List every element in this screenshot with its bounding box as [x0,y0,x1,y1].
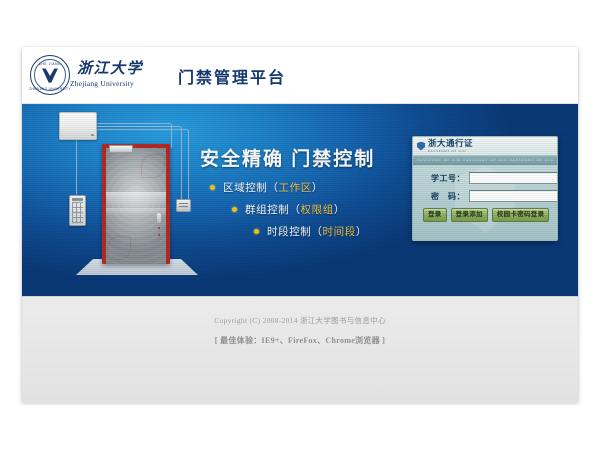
feature-text: 群组控制（ [245,202,301,217]
login-watermark-text: PASSPORT OF ZJU PASSPORT OF ZJU PASSPORT… [413,158,554,162]
card-reader-icon [176,199,191,212]
seal-bottom-text: ZHEJIANG UNIVERSITY [29,87,70,91]
brand-logo[interactable]: ZHE JIANG ZHEJIANG UNIVERSITY 浙江大学 Zheji… [30,55,143,95]
bullet-dot-icon [232,207,237,212]
app-screen: ZHE JIANG ZHEJIANG UNIVERSITY 浙江大学 Zheji… [0,0,600,450]
door-ornament-bottom [107,236,131,260]
login-title-en: PASSPORT OF ZJU [428,149,473,153]
login-add-button[interactable]: 登录添加 [451,208,488,222]
feature-text: 区域控制（ [223,180,279,195]
door-ornament-top [141,154,165,178]
page-card: ZHE JIANG ZHEJIANG UNIVERSITY 浙江大学 Zheji… [22,47,578,402]
security-door-icon [102,144,170,264]
login-panel-titles: 浙大通行证 PASSPORT OF ZJU [428,139,473,153]
feature-highlight: 权限组 [301,202,334,217]
feature-highlight: 工作区 [279,180,312,195]
login-form: 学工号： 密 码： 登录 登录添加 校园卡密码登录 [413,165,557,222]
door-handle-icon [157,213,161,223]
login-button-row: 登录 登录添加 校园卡密码登录 [421,208,549,222]
field-row-username: 学工号： [421,172,549,184]
password-label: 密 码： [421,191,469,202]
browser-support-text: [ 最佳体验：IE9+、FireFox、Chrome浏览器 ] [22,335,578,346]
feature-item-timeslot: 时段控制（时间段） [210,224,367,239]
username-label: 学工号： [421,173,469,184]
field-row-password: 密 码： [421,190,549,202]
feature-list: 区域控制（工作区） 群组控制（权限组） 时段控制（时间段） [210,180,367,246]
feature-item-group: 群组控制（权限组） [210,202,367,217]
keypad-screen [72,198,83,202]
wire-controller-to-keypad [76,137,79,195]
seal-top-text: ZHE JIANG [39,62,61,66]
username-input[interactable] [469,172,558,184]
keypad-keys [72,202,83,223]
page-title: 门禁管理平台 [178,64,286,88]
bullet-dot-icon [210,185,215,190]
controller-led-icon [91,134,94,137]
access-control-illustration [48,104,198,296]
door-closer-icon [109,145,133,153]
login-panel: 浙大通行证 PASSPORT OF ZJU PASSPORT OF ZJU PA… [412,136,558,241]
door-panel [106,148,166,264]
feature-text: 时段控制（ [267,224,323,239]
zju-seal-icon: ZHE JIANG ZHEJIANG UNIVERSITY [30,55,70,95]
brand-names: 浙江大学 Zhejiang University [70,62,143,88]
login-title-cn: 浙大通行证 [428,139,473,148]
feature-tail: ） [356,224,367,239]
copyright-text: Copyright (C) 2008-2014 浙江大学图书与信息中心 [22,315,578,326]
password-input[interactable] [469,190,558,202]
seal-mark-icon [42,68,58,83]
banner-slogan: 安全精确 门禁控制 [200,144,375,171]
site-header: ZHE JIANG ZHEJIANG UNIVERSITY 浙江大学 Zheji… [22,47,578,104]
site-footer: Copyright (C) 2008-2014 浙江大学图书与信息中心 [ 最佳… [22,296,578,403]
feature-tail: ） [334,202,345,217]
university-name-cn: 浙江大学 [77,62,143,77]
keypad-reader-icon [69,195,86,226]
shield-icon [417,142,425,151]
bullet-dot-icon [254,229,259,234]
door-sheen [106,192,166,208]
campus-card-login-button[interactable]: 校园卡密码登录 [492,208,550,222]
login-button[interactable]: 登录 [423,208,447,222]
login-watermark-strip: PASSPORT OF ZJU PASSPORT OF ZJU PASSPORT… [413,156,557,165]
feature-item-area: 区域控制（工作区） [210,180,367,195]
university-name-en: Zhejiang University [70,79,143,88]
access-controller-box-icon [59,112,97,140]
hero-banner: 安全精确 门禁控制 区域控制（工作区） 群组控制（权限组） 时段控制（时间段） [22,104,578,296]
feature-tail: ） [312,180,323,195]
login-panel-header: 浙大通行证 PASSPORT OF ZJU [413,137,557,156]
feature-highlight: 时间段 [323,224,356,239]
